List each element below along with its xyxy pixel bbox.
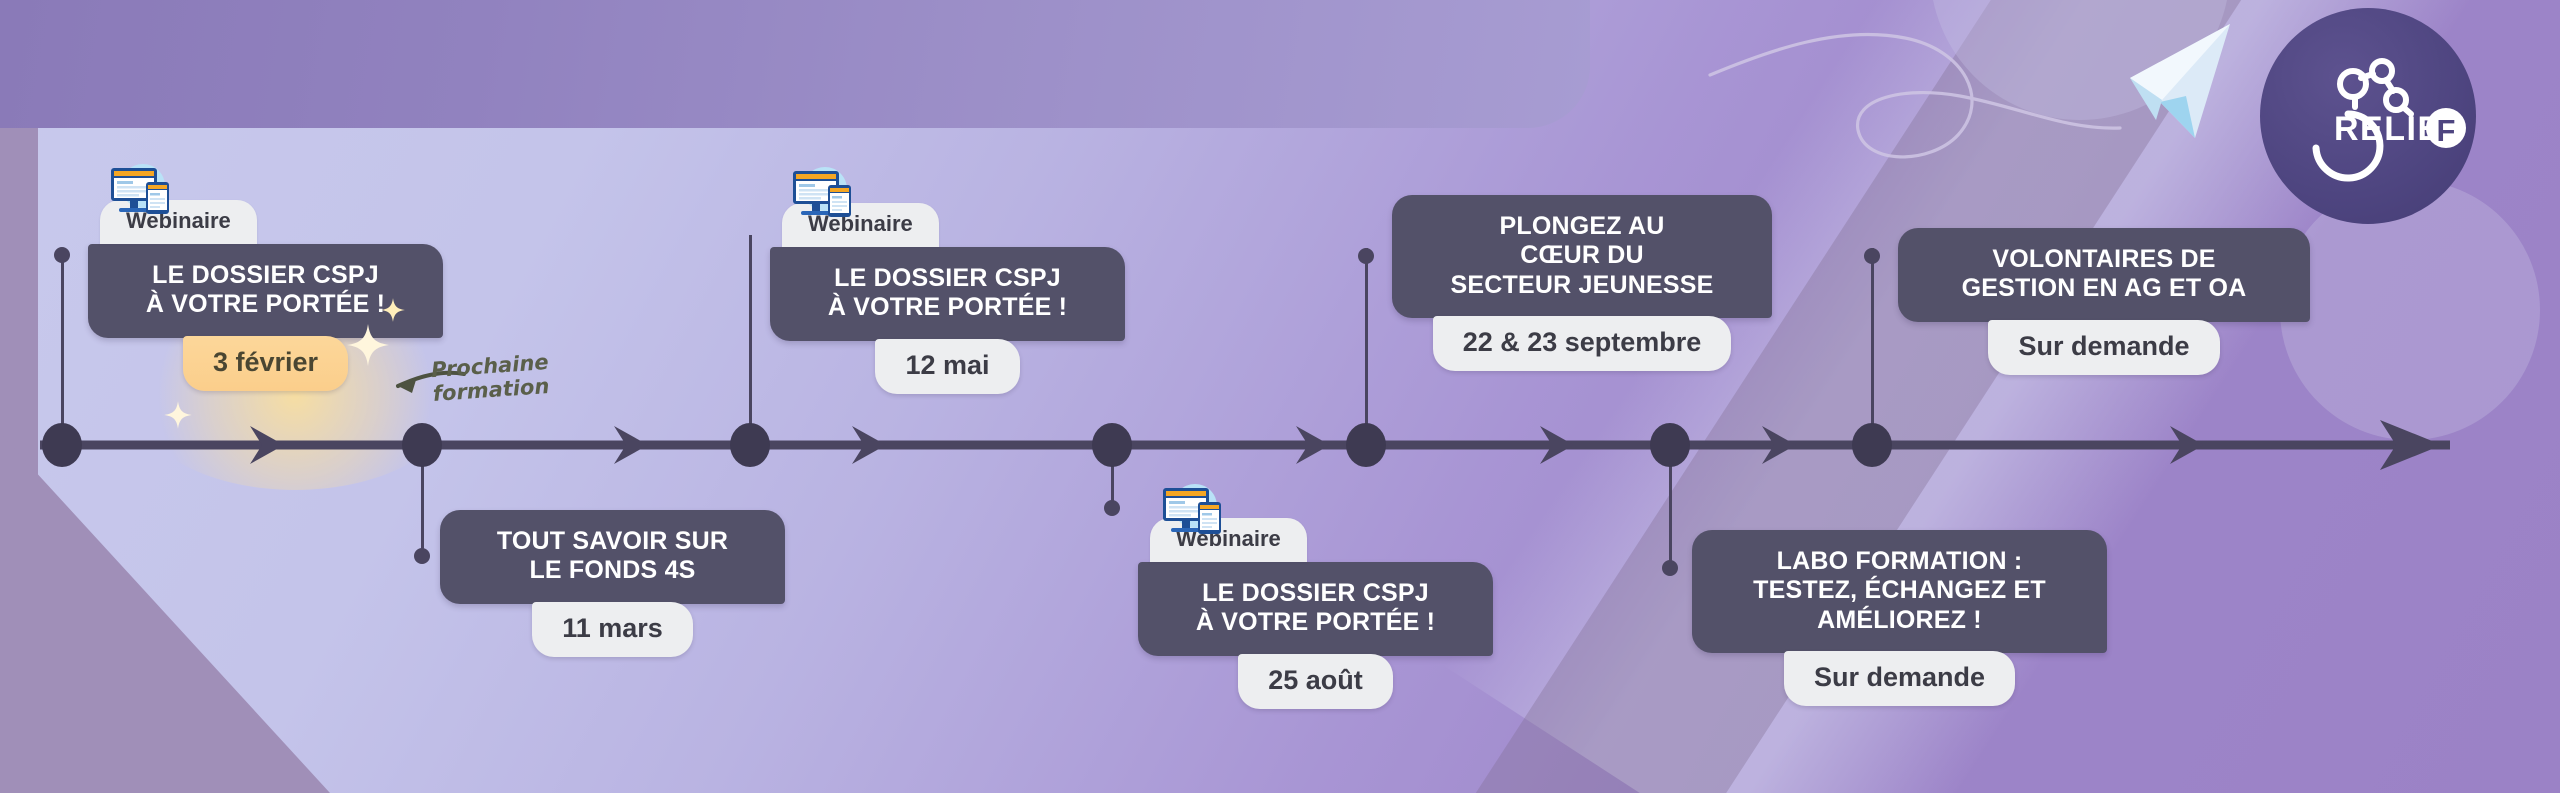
event-card-evt-3[interactable]: Webinaire LE DOSSIER CSPJ À VOTRE PORTÉE… (770, 203, 1125, 394)
stem-dot-evt-2 (414, 548, 430, 564)
event-title-evt-6: LABO FORMATION : TESTEZ, ÉCHANGEZ ET AMÉ… (1692, 530, 2107, 653)
event-date-evt-6[interactable]: Sur demande (1784, 651, 2015, 706)
event-title-evt-3: LE DOSSIER CSPJ À VOTRE PORTÉE ! (770, 247, 1125, 341)
stem-dot-evt-6 (1662, 560, 1678, 576)
event-card-evt-2[interactable]: TOUT SAVOIR SUR LE FONDS 4S 11 mars (440, 510, 785, 657)
event-card-evt-5[interactable]: PLONGEZ AU CŒUR DU SECTEUR JEUNESSE 22 &… (1392, 195, 1772, 371)
event-title-evt-2: TOUT SAVOIR SUR LE FONDS 4S (440, 510, 785, 604)
timeline-axis (0, 400, 2560, 490)
stem-dot-evt-4 (1104, 500, 1120, 516)
event-date-evt-3[interactable]: 12 mai (875, 339, 1019, 394)
stem-dot-evt-1 (54, 247, 70, 263)
event-card-evt-4[interactable]: Webinaire LE DOSSIER CSPJ À VOTRE PORTÉE… (1138, 518, 1493, 709)
webinar-icon (785, 163, 857, 225)
event-title-evt-1: LE DOSSIER CSPJ À VOTRE PORTÉE ! (88, 244, 443, 338)
header-band (0, 0, 1590, 128)
event-date-evt-1[interactable]: 3 février (183, 336, 348, 391)
logo-mark: RELIE- F (2260, 8, 2476, 224)
event-card-evt-6[interactable]: LABO FORMATION : TESTEZ, ÉCHANGEZ ET AMÉ… (1692, 530, 2107, 706)
stem-dot-evt-5 (1358, 248, 1374, 264)
paper-plane-icon (2130, 24, 2230, 138)
paper-plane-decoration (1690, 0, 2250, 180)
event-date-evt-4[interactable]: 25 août (1238, 654, 1393, 709)
event-date-evt-7[interactable]: Sur demande (1988, 320, 2219, 375)
event-title-evt-5: PLONGEZ AU CŒUR DU SECTEUR JEUNESSE (1392, 195, 1772, 318)
brand-logo[interactable]: RELIE- F (2260, 8, 2476, 224)
event-card-evt-7[interactable]: VOLONTAIRES DE GESTION EN AG ET OA Sur d… (1898, 228, 2310, 375)
event-date-evt-5[interactable]: 22 & 23 septembre (1433, 316, 1732, 371)
event-date-evt-2[interactable]: 11 mars (532, 602, 693, 657)
infographic-canvas: 2026 — NOS PROCHAINES FORMATIONS RELIE (0, 0, 2560, 793)
stem-dot-evt-7 (1864, 248, 1880, 264)
webinar-icon (1155, 480, 1227, 542)
webinar-icon (103, 160, 175, 222)
svg-text:F: F (2437, 113, 2456, 148)
event-title-evt-4: LE DOSSIER CSPJ À VOTRE PORTÉE ! (1138, 562, 1493, 656)
next-formation-note: Prochaine formation (431, 351, 551, 406)
event-title-evt-7: VOLONTAIRES DE GESTION EN AG ET OA (1898, 228, 2310, 322)
